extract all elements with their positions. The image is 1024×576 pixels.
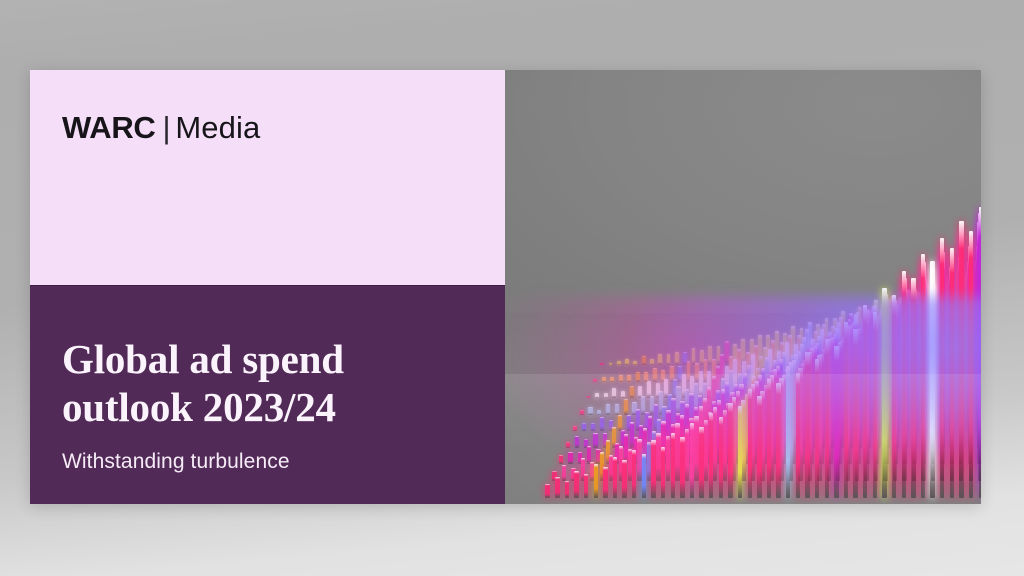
page-title-line-2: outlook 2023/24	[62, 384, 481, 432]
artwork-bar	[555, 477, 559, 497]
cover-artwork	[505, 70, 981, 504]
artwork-bar	[594, 464, 598, 498]
artwork-bar	[844, 322, 848, 498]
title-panel: Global ad spend outlook 2023/24 Withstan…	[30, 285, 505, 504]
artwork-bar	[911, 278, 915, 497]
artwork-bar	[545, 484, 549, 498]
title-block: Global ad spend outlook 2023/24 Withstan…	[62, 336, 481, 474]
artwork-bar	[651, 440, 655, 497]
artwork-bar	[622, 460, 626, 497]
artwork-bar	[892, 295, 896, 498]
artwork-bar	[825, 339, 829, 498]
artwork-bar	[748, 389, 752, 497]
artwork-bar	[709, 413, 713, 497]
left-column: WARC|Media Global ad spend outlook 2023/…	[30, 70, 505, 504]
artwork-bar	[757, 396, 761, 497]
page-title: Global ad spend outlook 2023/24	[62, 336, 481, 431]
artwork-bar	[796, 373, 800, 498]
artwork-bar	[719, 417, 723, 498]
artwork-bar	[767, 379, 771, 497]
artwork-bar	[969, 231, 973, 498]
artwork-bar-field	[505, 70, 981, 504]
artwork-bar	[882, 288, 886, 497]
artwork-bar-row	[505, 70, 981, 504]
page-subtitle: Withstanding turbulence	[62, 449, 481, 474]
artwork-bar	[642, 454, 646, 498]
artwork-bar	[728, 403, 732, 498]
artwork-bar	[940, 238, 944, 498]
artwork-bar	[959, 221, 963, 498]
artwork-bar	[690, 423, 694, 497]
warc-media-logo: WARC|Media	[62, 112, 260, 143]
artwork-bar	[853, 329, 857, 498]
logo-media-word: Media	[175, 110, 260, 145]
artwork-bar	[603, 467, 607, 497]
artwork-bar	[632, 450, 636, 497]
artwork-bar	[738, 406, 742, 497]
artwork-bar	[902, 271, 906, 497]
artwork-bar	[584, 474, 588, 498]
logo-warc-wordmark: WARC	[62, 110, 156, 145]
artwork-bar	[565, 481, 569, 498]
artwork-bar	[950, 248, 954, 498]
artwork-bar	[613, 457, 617, 498]
artwork-bar	[979, 207, 981, 497]
logo-separator: |	[156, 110, 176, 145]
artwork-bar	[574, 471, 578, 498]
cover-slide: WARC|Media Global ad spend outlook 2023/…	[30, 70, 981, 504]
artwork-bar	[921, 254, 925, 497]
artwork-bar	[805, 352, 809, 497]
artwork-bar	[699, 427, 703, 498]
artwork-bar	[873, 312, 877, 498]
artwork-bar	[834, 346, 838, 498]
artwork-bar	[680, 437, 684, 498]
artwork-bar	[930, 261, 934, 497]
page-title-line-1: Global ad spend	[62, 336, 481, 384]
artwork-bar	[786, 366, 790, 498]
artwork-bar	[863, 305, 867, 497]
artwork-bar	[671, 433, 675, 497]
artwork-bar	[815, 359, 819, 497]
brand-panel: WARC|Media	[30, 70, 505, 285]
artwork-bar	[661, 447, 665, 498]
artwork-bar	[776, 383, 780, 498]
